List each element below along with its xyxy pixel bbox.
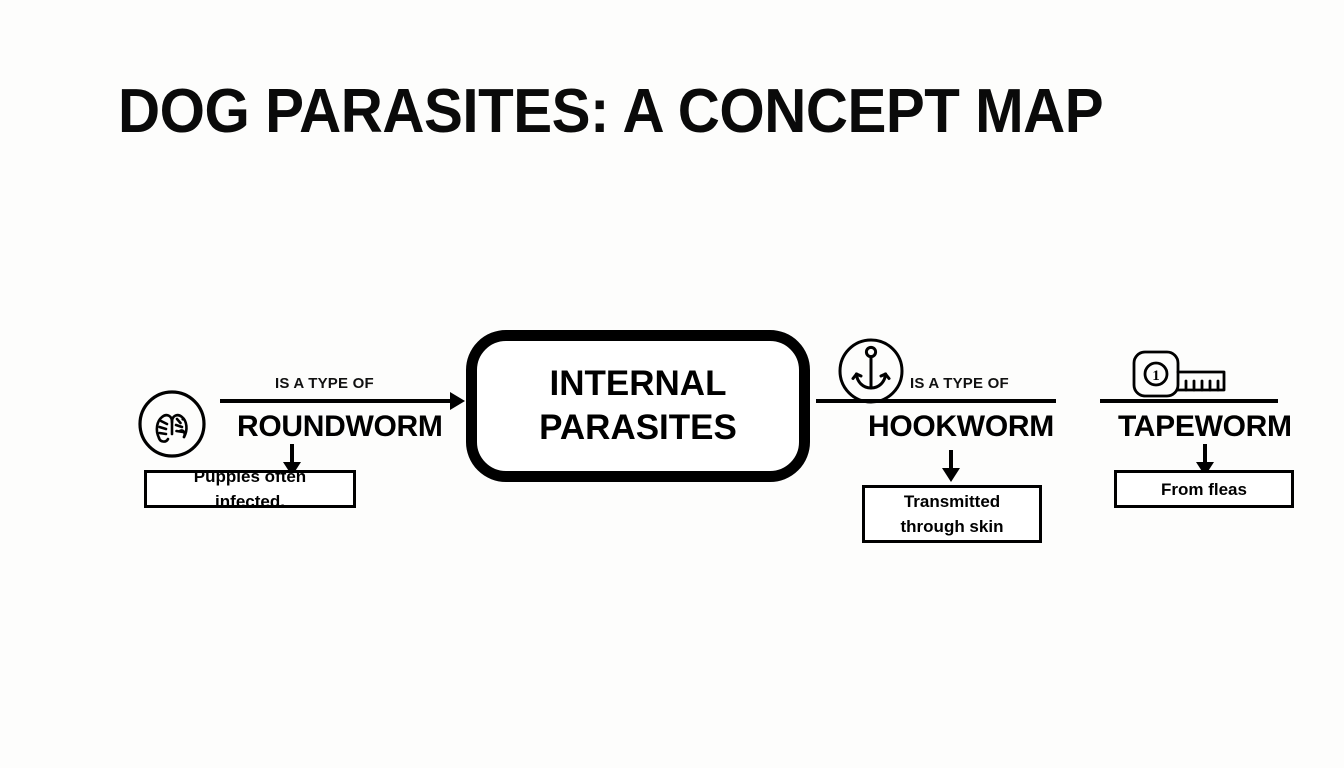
central-node-label-line1: INTERNAL	[550, 364, 727, 403]
roundworm-icon	[136, 388, 208, 460]
detail-box-roundworm: Puppies often infected.	[144, 470, 356, 508]
branch-title-roundworm: ROUNDWORM	[237, 410, 443, 444]
relation-label-hookworm: IS A TYPE OF	[910, 375, 1009, 392]
detail-box-hookworm-line2: through skin	[901, 514, 1004, 539]
detail-box-tapeworm: From fleas	[1114, 470, 1294, 508]
central-node: INTERNAL PARASITES	[466, 330, 810, 482]
branch-title-tapeworm: TAPEWORM	[1118, 410, 1292, 444]
arrowhead-roundworm	[450, 392, 465, 410]
svg-text:1: 1	[1152, 368, 1160, 384]
connector-roundworm-to-center	[220, 399, 452, 403]
diagram-canvas: DOG PARASITES: A CONCEPT MAP IS A TYPE O…	[0, 0, 1344, 768]
anchor-hook-icon	[836, 336, 906, 406]
connector-hookworm	[816, 399, 1056, 403]
page-title: DOG PARASITES: A CONCEPT MAP	[118, 76, 1152, 148]
arrowhead-hookworm-detail	[942, 468, 960, 482]
connector-tapeworm	[1100, 399, 1278, 403]
tape-measure-icon: 1	[1132, 350, 1244, 400]
central-node-label: INTERNAL PARASITES	[539, 362, 737, 450]
relation-label-roundworm: IS A TYPE OF	[275, 375, 374, 392]
detail-box-hookworm: Transmitted through skin	[862, 485, 1042, 543]
central-node-label-line2: PARASITES	[539, 406, 737, 450]
branch-title-hookworm: HOOKWORM	[868, 410, 1054, 444]
detail-box-hookworm-line1: Transmitted	[904, 489, 1000, 514]
